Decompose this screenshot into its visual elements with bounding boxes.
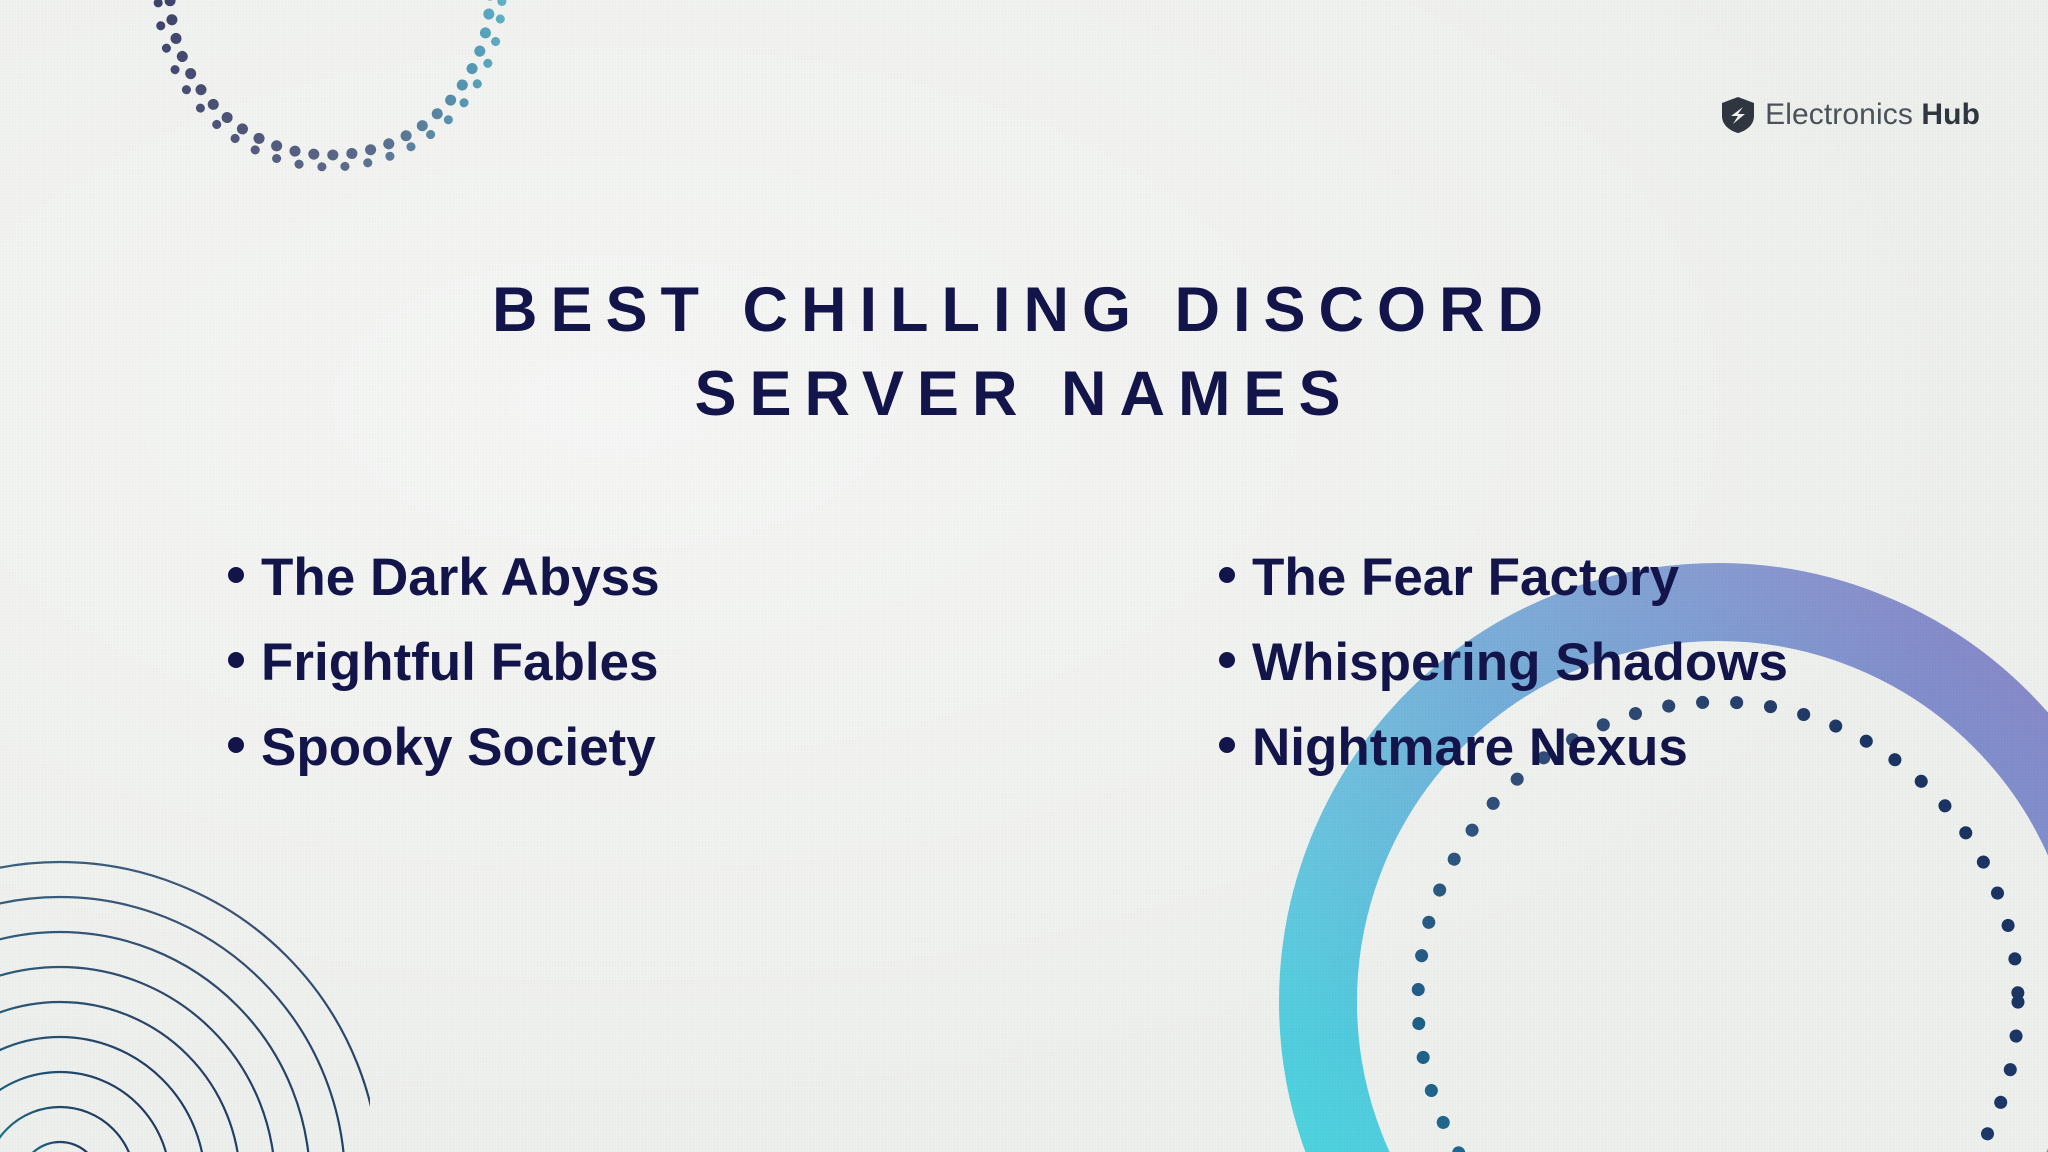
- bullet-icon: [228, 652, 244, 668]
- list-item: Nightmare Nexus: [1219, 705, 2048, 790]
- brand-logo-text: Electronics Hub: [1765, 98, 1980, 132]
- slide-canvas: Electronics Hub BEST CHILLING DISCORD SE…: [0, 0, 2048, 1152]
- list-item-label: Whispering Shadows: [1252, 620, 1788, 705]
- brand-logo: Electronics Hub: [1721, 96, 1980, 134]
- list-item-label: Nightmare Nexus: [1252, 705, 1688, 790]
- bullet-icon: [228, 567, 244, 583]
- right-name-column: The Fear Factory Whispering Shadows Nigh…: [1024, 535, 2048, 790]
- list-item-label: Spooky Society: [261, 705, 656, 790]
- list-item-label: The Dark Abyss: [261, 535, 660, 620]
- list-item: The Fear Factory: [1219, 535, 2048, 620]
- brand-name-light: Electronics: [1765, 98, 1913, 131]
- list-item: Spooky Society: [228, 705, 1024, 790]
- bullet-icon: [1219, 737, 1235, 753]
- shield-bolt-icon: [1721, 96, 1755, 134]
- list-item: Frightful Fables: [228, 620, 1024, 705]
- page-title: BEST CHILLING DISCORD SERVER NAMES: [0, 268, 2048, 436]
- page-title-line-1: BEST CHILLING DISCORD: [0, 268, 2048, 352]
- right-name-list: The Fear Factory Whispering Shadows Nigh…: [1219, 535, 2048, 790]
- bullet-icon: [1219, 567, 1235, 583]
- dotted-arc-top-left-icon: [120, 0, 540, 205]
- server-names-lists: The Dark Abyss Frightful Fables Spooky S…: [0, 535, 2048, 790]
- list-item-label: Frightful Fables: [261, 620, 659, 705]
- concentric-rings-bottom-left-icon: [0, 782, 370, 1152]
- bullet-icon: [1219, 652, 1235, 668]
- list-item: The Dark Abyss: [228, 535, 1024, 620]
- left-name-column: The Dark Abyss Frightful Fables Spooky S…: [0, 535, 1024, 790]
- list-item-label: The Fear Factory: [1252, 535, 1679, 620]
- brand-name-bold: Hub: [1921, 98, 1980, 131]
- bullet-icon: [228, 737, 244, 753]
- page-title-line-2: SERVER NAMES: [0, 352, 2048, 436]
- left-name-list: The Dark Abyss Frightful Fables Spooky S…: [228, 535, 1024, 790]
- list-item: Whispering Shadows: [1219, 620, 2048, 705]
